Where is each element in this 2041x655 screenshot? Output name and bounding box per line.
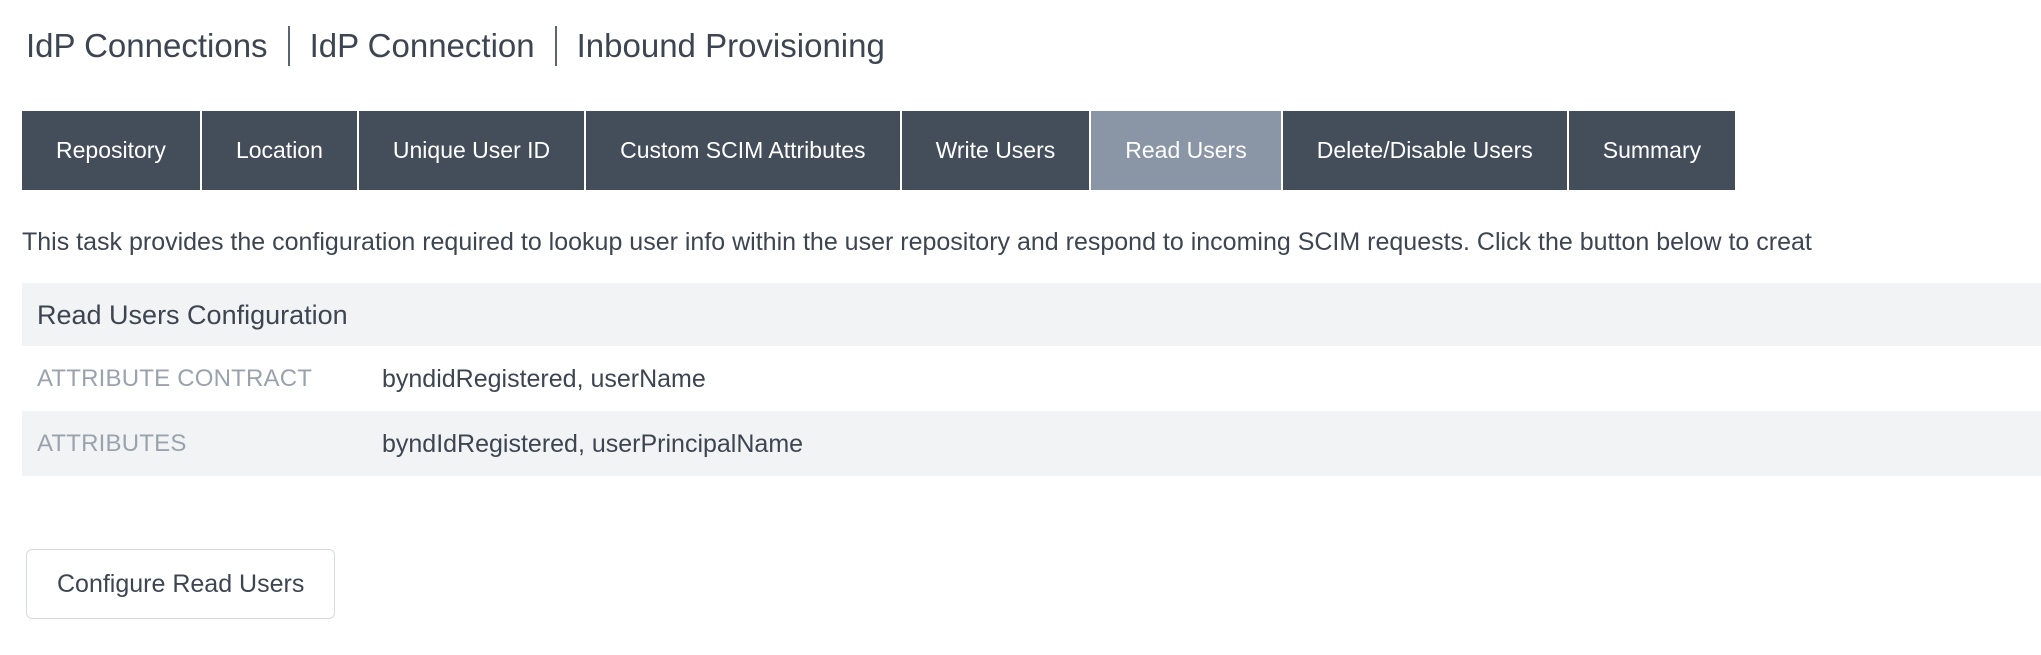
row-value-attribute-contract: byndidRegistered, userName [382,364,706,394]
configure-read-users-button[interactable]: Configure Read Users [26,549,335,619]
breadcrumb: IdP Connections IdP Connection Inbound P… [26,22,885,70]
table-row: ATTRIBUTES byndIdRegistered, userPrincip… [22,411,2041,476]
wizard-tab-bar: Repository Location Unique User ID Custo… [22,111,1735,190]
tab-repository[interactable]: Repository [22,111,202,190]
table-row: ATTRIBUTE CONTRACT byndidRegistered, use… [22,346,2041,411]
breadcrumb-item-idp-connections[interactable]: IdP Connections [26,26,268,66]
actions-area: Configure Read Users [26,549,335,619]
panel-header: Read Users Configuration [22,283,2041,346]
tab-write-users[interactable]: Write Users [902,111,1092,190]
row-label-attribute-contract: ATTRIBUTE CONTRACT [37,364,382,394]
breadcrumb-item-inbound-provisioning: Inbound Provisioning [577,26,885,66]
breadcrumb-item-idp-connection[interactable]: IdP Connection [310,26,535,66]
tab-read-users[interactable]: Read Users [1091,111,1282,190]
read-users-configuration-panel: Read Users Configuration ATTRIBUTE CONTR… [22,283,2041,476]
task-description: This task provides the configuration req… [22,225,2041,259]
breadcrumb-separator-icon [555,26,557,66]
row-value-attributes: byndIdRegistered, userPrincipalName [382,429,803,459]
tab-location[interactable]: Location [202,111,359,190]
breadcrumb-separator-icon [288,26,290,66]
tab-unique-user-id[interactable]: Unique User ID [359,111,586,190]
tab-summary[interactable]: Summary [1569,111,1735,190]
panel-title: Read Users Configuration [37,299,348,331]
tab-delete-disable-users[interactable]: Delete/Disable Users [1283,111,1569,190]
tab-custom-scim-attributes[interactable]: Custom SCIM Attributes [586,111,901,190]
row-label-attributes: ATTRIBUTES [37,429,382,459]
